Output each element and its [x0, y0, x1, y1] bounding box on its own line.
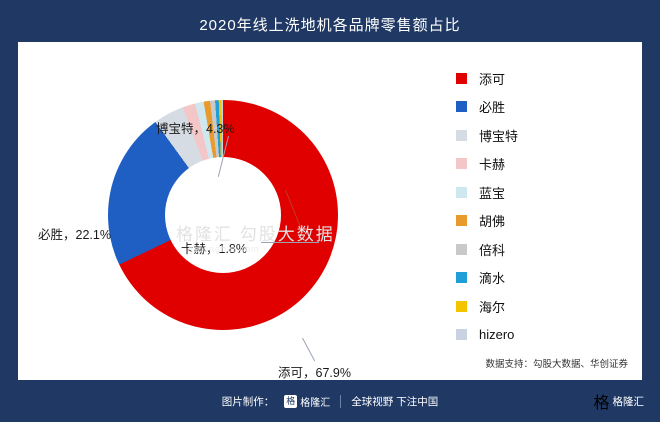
legend-item[interactable]: 倍科	[456, 235, 624, 264]
legend-swatch-icon	[456, 101, 467, 112]
legend-item[interactable]: hizero	[456, 321, 624, 350]
slice-label-bisheng: 必胜，22.1%	[38, 224, 111, 243]
gelonghui-logo-icon-right: 格	[593, 389, 609, 413]
legend-swatch-icon	[456, 244, 467, 255]
footer-right-brand: 格 格隆汇	[593, 389, 644, 413]
slice-label-tianke: 添可，67.9%	[278, 362, 351, 381]
legend-label: 倍科	[479, 240, 505, 259]
screenshot-root: 2020年线上洗地机各品牌零售额占比 博宝特，4.3% 必胜，22.1% 卡赫，…	[0, 0, 660, 422]
legend-swatch-icon	[456, 301, 467, 312]
legend-label: 蓝宝	[479, 183, 505, 202]
page-title: 2020年线上洗地机各品牌零售额占比	[0, 14, 660, 35]
leader-line-tianke	[302, 338, 315, 361]
legend-swatch-icon	[456, 187, 467, 198]
legend-item[interactable]: 蓝宝	[456, 178, 624, 207]
gelonghui-logo-icon: 格	[284, 395, 297, 408]
legend-label: hizero	[479, 327, 514, 342]
source-note: 数据支持：勾股大数据、华创证券	[485, 356, 628, 370]
slice-label-bobaote: 博宝特，4.3%	[156, 118, 235, 137]
footer-brand: 格 格隆汇	[284, 394, 330, 409]
footer-right-brand-name: 格隆汇	[613, 394, 645, 409]
legend-item[interactable]: 卡赫	[456, 150, 624, 179]
legend-label: 博宝特	[479, 126, 518, 145]
legend: 添可必胜博宝特卡赫蓝宝胡佛倍科滴水海尔hizero	[456, 64, 624, 349]
donut-chart: 博宝特，4.3% 必胜，22.1% 卡赫，1.8% 添可，67.9% 格隆汇 勾…	[38, 52, 458, 370]
legend-label: 卡赫	[479, 154, 505, 173]
footer-divider	[340, 395, 341, 408]
watermark-url: gelonghui.com	[188, 244, 260, 254]
legend-swatch-icon	[456, 158, 467, 169]
legend-item[interactable]: 胡佛	[456, 207, 624, 236]
legend-item[interactable]: 海尔	[456, 292, 624, 321]
legend-swatch-icon	[456, 329, 467, 340]
legend-swatch-icon	[456, 215, 467, 226]
chart-card: 博宝特，4.3% 必胜，22.1% 卡赫，1.8% 添可，67.9% 格隆汇 勾…	[18, 42, 642, 380]
legend-label: 添可	[479, 69, 505, 88]
legend-item[interactable]: 必胜	[456, 93, 624, 122]
footer-slogan: 全球视野 下注中国	[351, 394, 438, 409]
legend-label: 必胜	[479, 97, 505, 116]
legend-swatch-icon	[456, 272, 467, 283]
watermark: 格隆汇 勾股大数据	[176, 220, 335, 245]
legend-item[interactable]: 添可	[456, 64, 624, 93]
legend-item[interactable]: 博宝特	[456, 121, 624, 150]
legend-swatch-icon	[456, 73, 467, 84]
legend-item[interactable]: 滴水	[456, 264, 624, 293]
legend-swatch-icon	[456, 130, 467, 141]
legend-label: 胡佛	[479, 211, 505, 230]
legend-label: 海尔	[479, 297, 505, 316]
legend-label: 滴水	[479, 268, 505, 287]
footer: 图片制作： 格 格隆汇 全球视野 下注中国 格 格隆汇	[0, 380, 660, 422]
footer-brand-name: 格隆汇	[300, 394, 330, 409]
footer-credit-label: 图片制作：	[222, 394, 275, 409]
